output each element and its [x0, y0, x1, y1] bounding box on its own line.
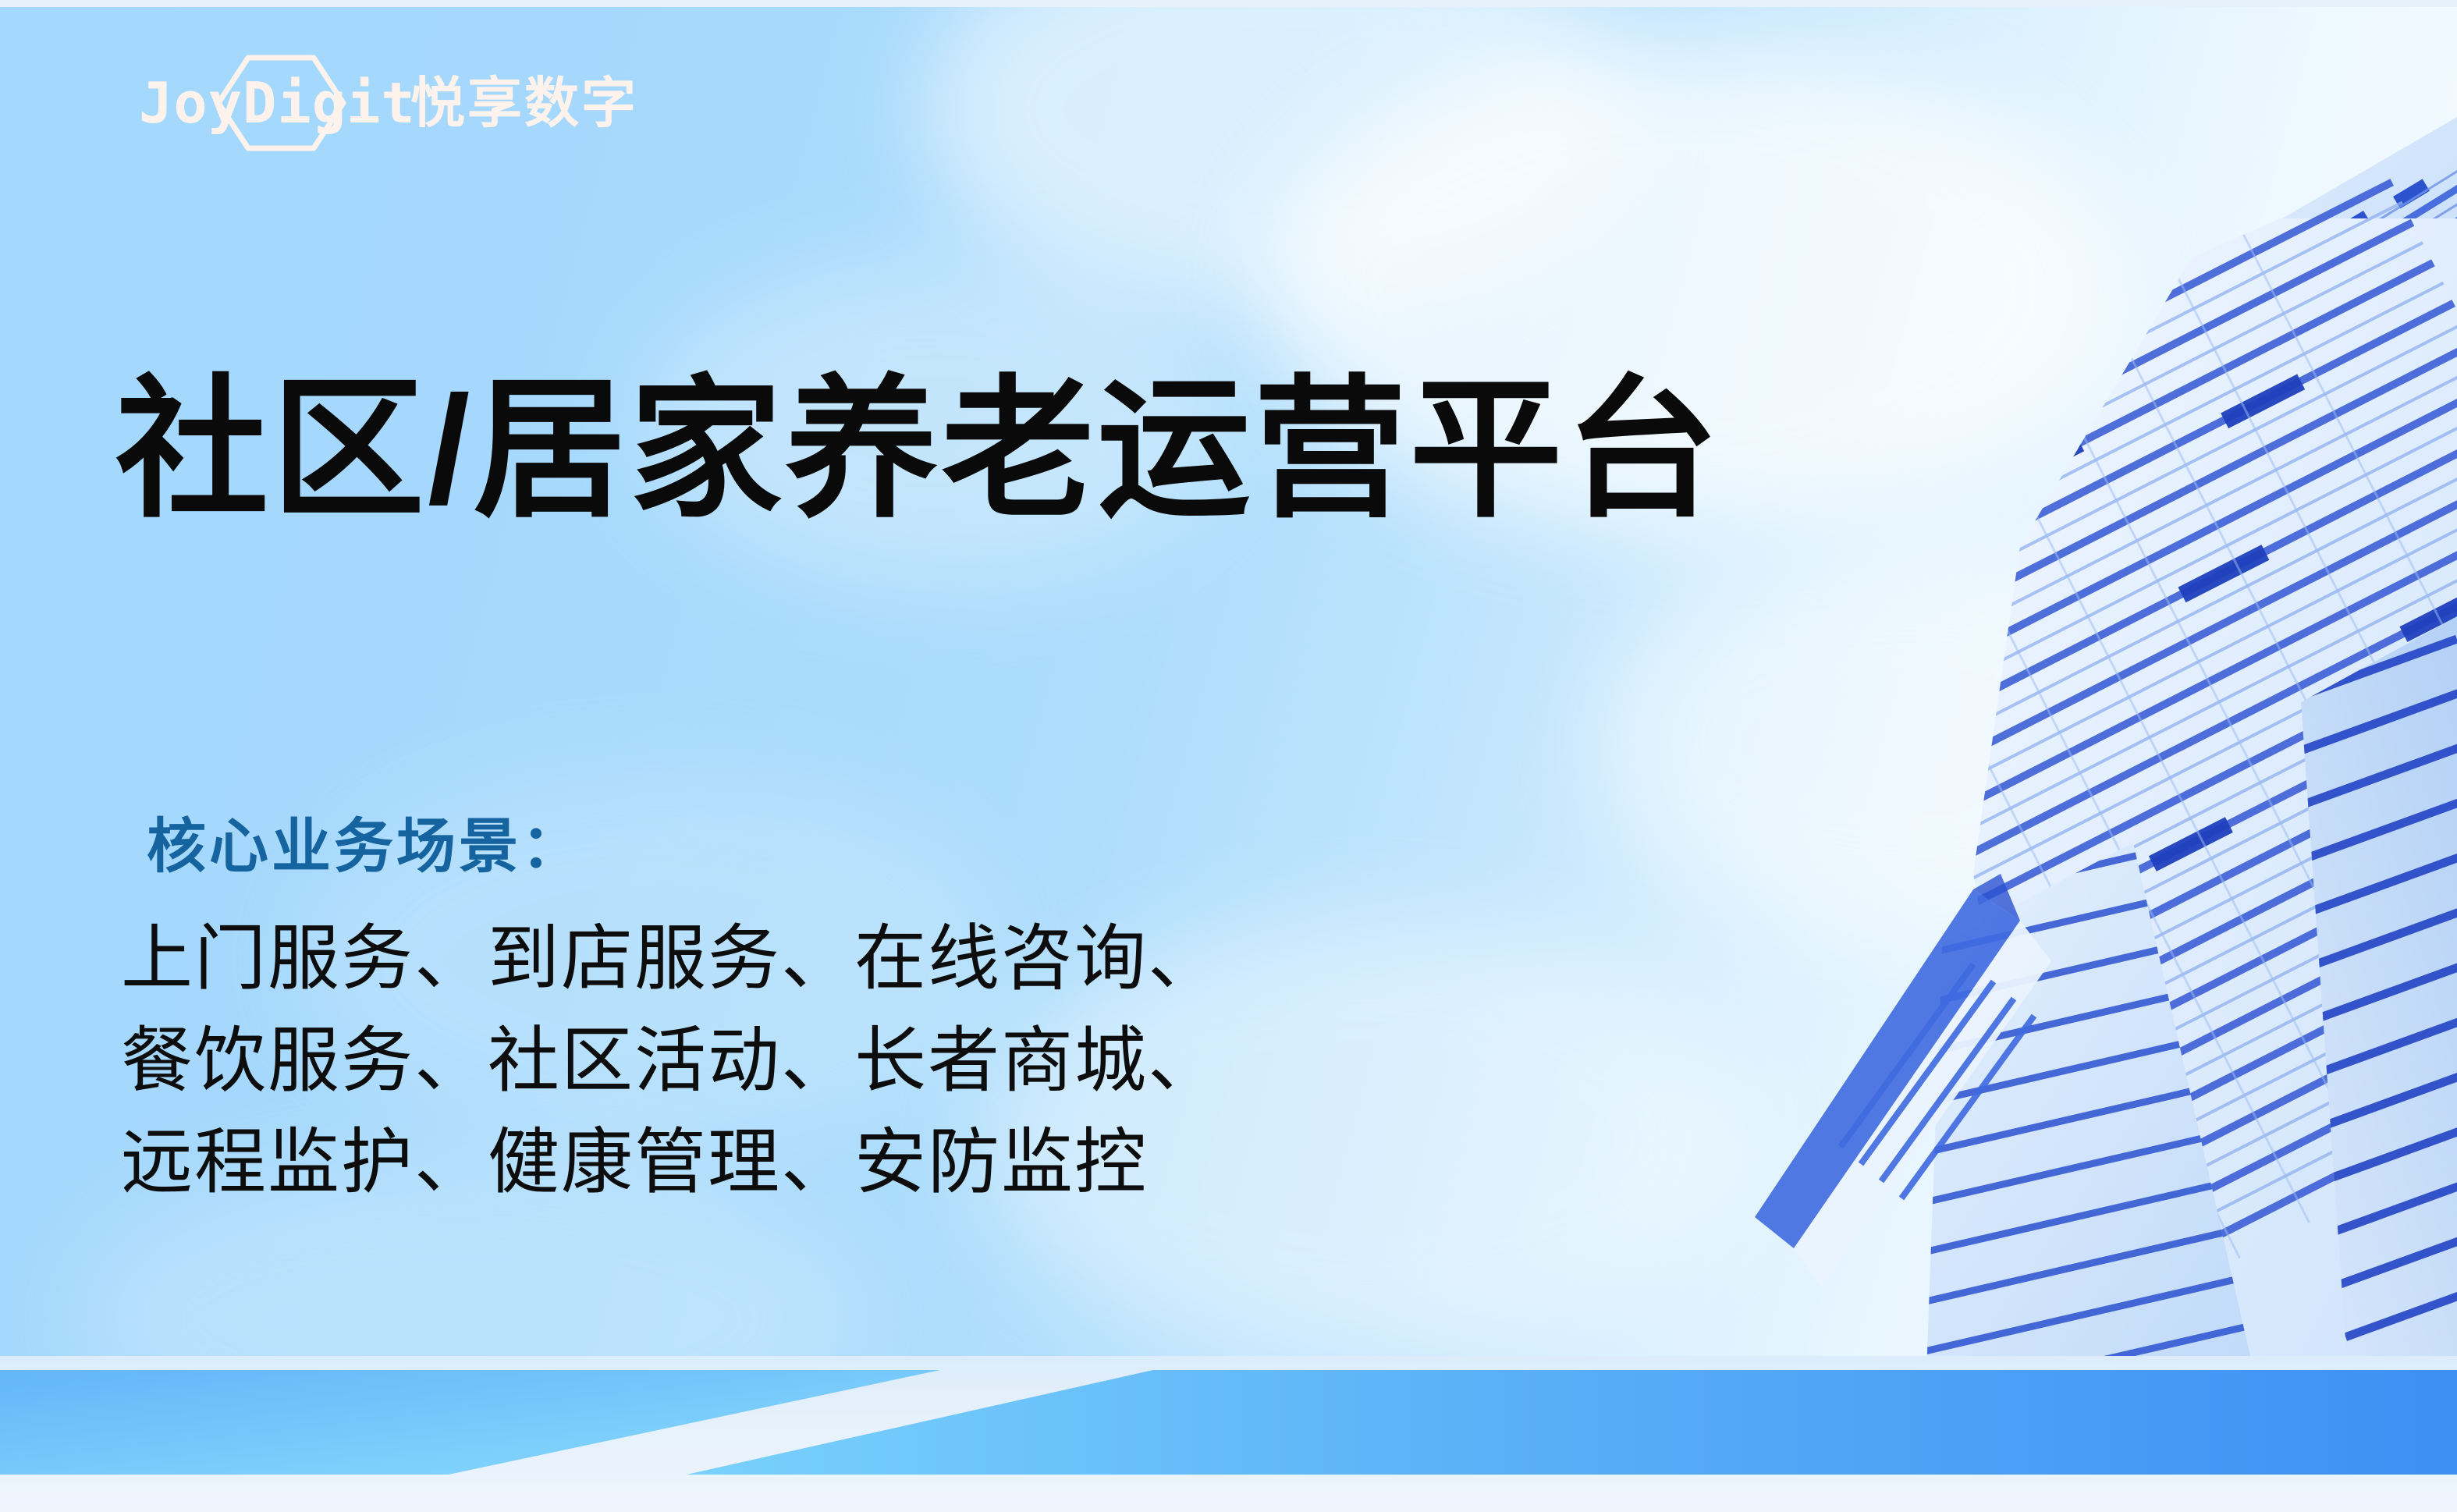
logo-wordmark: JoyDigit [139, 75, 416, 131]
scenario-line: 远程监护、健康管理、安防监控 [121, 1120, 1221, 1205]
bottom-decor-band [0, 1356, 2457, 1512]
logo-chinese-name: 悦享数字 [410, 76, 638, 130]
scenario-list: 上门服务、到店服务、在线咨询、 餐饮服务、社区活动、长者商城、 远程监护、健康管… [121, 917, 1221, 1205]
page-title: 社区/居家养老运营平台 [115, 366, 1721, 534]
scenario-line: 餐饮服务、社区活动、长者商城、 [121, 1019, 1221, 1104]
skyscraper-photo [1427, 0, 2457, 1373]
slide-root: JoyDigit 悦享数字 社区/居家养老运营平台 核心业务场景： 上门服务、到… [0, 0, 2457, 1512]
brand-logo: JoyDigit 悦享数字 [139, 59, 638, 147]
scenario-line: 上门服务、到店服务、在线咨询、 [121, 917, 1221, 1002]
section-heading: 核心业务场景： [147, 818, 584, 877]
logo-mark: JoyDigit [139, 59, 390, 147]
